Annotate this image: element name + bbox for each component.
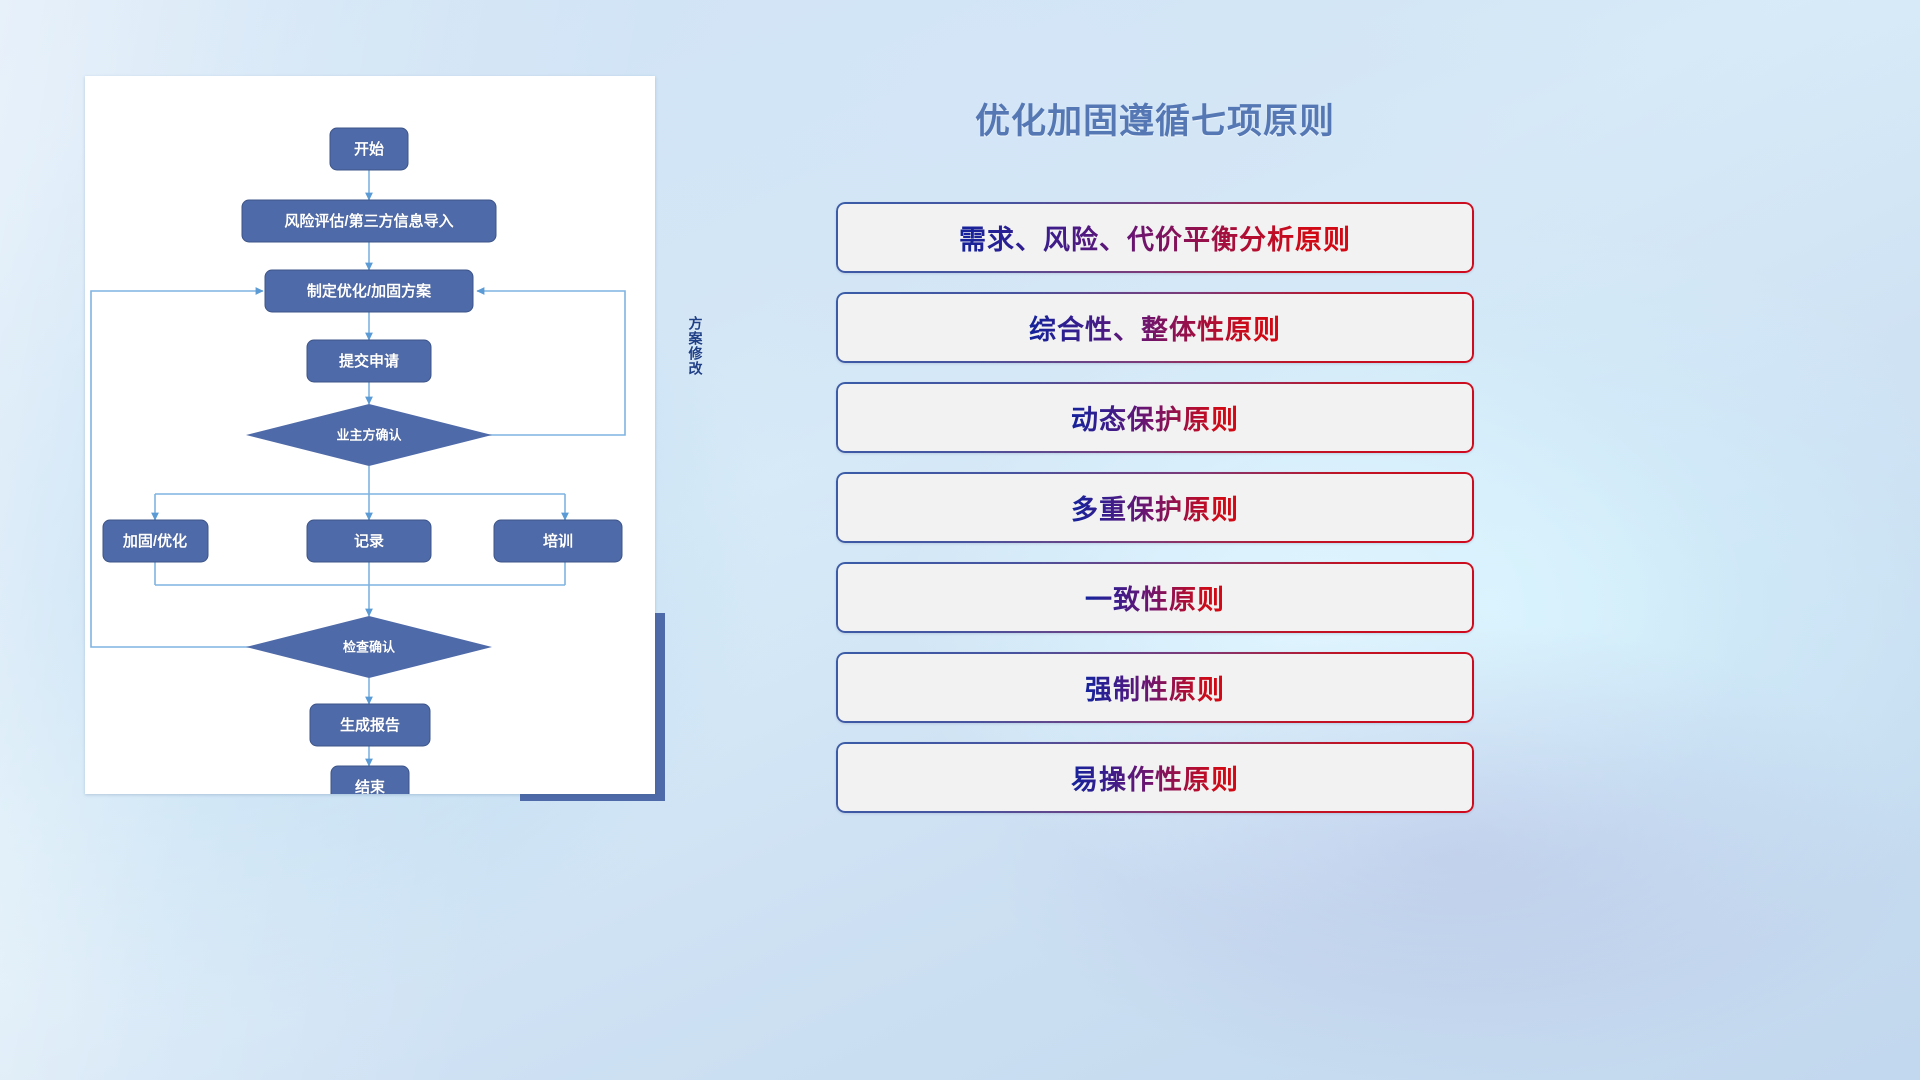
flow-node-owner-confirm-label: 业主方确认 bbox=[336, 427, 402, 442]
flow-node-report[interactable]: 生成报告 bbox=[310, 704, 430, 746]
principle-item-2[interactable]: 综合性、整体性原则 bbox=[836, 292, 1474, 363]
flow-node-check-label: 检查确认 bbox=[343, 639, 396, 654]
flow-node-record-label: 记录 bbox=[354, 533, 384, 550]
flow-node-assess[interactable]: 风险评估/第三方信息导入 bbox=[242, 200, 496, 242]
flow-node-reinforce[interactable]: 加固/优化 bbox=[103, 520, 208, 562]
flowchart-region: 开始 风险评估/第三方信息导入 制定优化/加固方案 提交申请 bbox=[85, 76, 655, 794]
flowchart-card: 开始 风险评估/第三方信息导入 制定优化/加固方案 提交申请 bbox=[85, 76, 655, 794]
flow-node-end[interactable]: 结束 bbox=[331, 766, 409, 794]
principle-item-5[interactable]: 一致性原则 bbox=[836, 562, 1474, 633]
flow-edge-label-plan-revision: 方案修改 bbox=[688, 316, 703, 376]
principle-item-3-label: 动态保护原则 bbox=[1071, 398, 1239, 437]
flow-node-record[interactable]: 记录 bbox=[307, 520, 431, 562]
flow-node-plan[interactable]: 制定优化/加固方案 bbox=[265, 270, 473, 312]
flow-node-submit[interactable]: 提交申请 bbox=[307, 340, 431, 382]
principle-item-2-label: 综合性、整体性原则 bbox=[1029, 308, 1281, 347]
principle-item-4[interactable]: 多重保护原则 bbox=[836, 472, 1474, 543]
flow-node-plan-label: 制定优化/加固方案 bbox=[307, 282, 432, 300]
flow-node-check[interactable]: 检查确认 bbox=[246, 616, 492, 678]
flow-node-submit-label: 提交申请 bbox=[339, 352, 399, 370]
flowchart-connectors bbox=[91, 170, 625, 766]
principles-list: 需求、风险、代价平衡分析原则 综合性、整体性原则 动态保护原则 多重保护原则 一… bbox=[836, 202, 1474, 813]
flow-node-owner-confirm[interactable]: 业主方确认 bbox=[246, 404, 492, 466]
flow-node-assess-label: 风险评估/第三方信息导入 bbox=[284, 212, 453, 230]
flow-node-reinforce-label: 加固/优化 bbox=[122, 532, 187, 550]
flowchart-nodes: 开始 风险评估/第三方信息导入 制定优化/加固方案 提交申请 bbox=[103, 128, 622, 794]
flow-node-training-label: 培训 bbox=[543, 532, 573, 550]
principle-item-7[interactable]: 易操作性原则 bbox=[836, 742, 1474, 813]
flowchart-diagram: 开始 风险评估/第三方信息导入 制定优化/加固方案 提交申请 bbox=[85, 76, 655, 794]
panel-title: 优化加固遵循七项原则 bbox=[836, 86, 1474, 143]
principle-item-1-label: 需求、风险、代价平衡分析原则 bbox=[959, 218, 1351, 257]
flow-node-report-label: 生成报告 bbox=[340, 716, 400, 734]
principle-item-6[interactable]: 强制性原则 bbox=[836, 652, 1474, 723]
flow-node-start-label: 开始 bbox=[354, 140, 384, 158]
flow-node-start[interactable]: 开始 bbox=[330, 128, 408, 170]
principle-item-7-label: 易操作性原则 bbox=[1071, 758, 1239, 797]
principle-item-4-label: 多重保护原则 bbox=[1071, 488, 1239, 527]
principle-item-3[interactable]: 动态保护原则 bbox=[836, 382, 1474, 453]
principle-item-6-label: 强制性原则 bbox=[1085, 668, 1225, 707]
flow-node-end-label: 结束 bbox=[355, 778, 386, 794]
flow-node-training[interactable]: 培训 bbox=[494, 520, 622, 562]
principles-panel: 优化加固遵循七项原则 需求、风险、代价平衡分析原则 综合性、整体性原则 动态保护… bbox=[836, 86, 1474, 813]
principle-item-5-label: 一致性原则 bbox=[1085, 578, 1225, 617]
principle-item-1[interactable]: 需求、风险、代价平衡分析原则 bbox=[836, 202, 1474, 273]
